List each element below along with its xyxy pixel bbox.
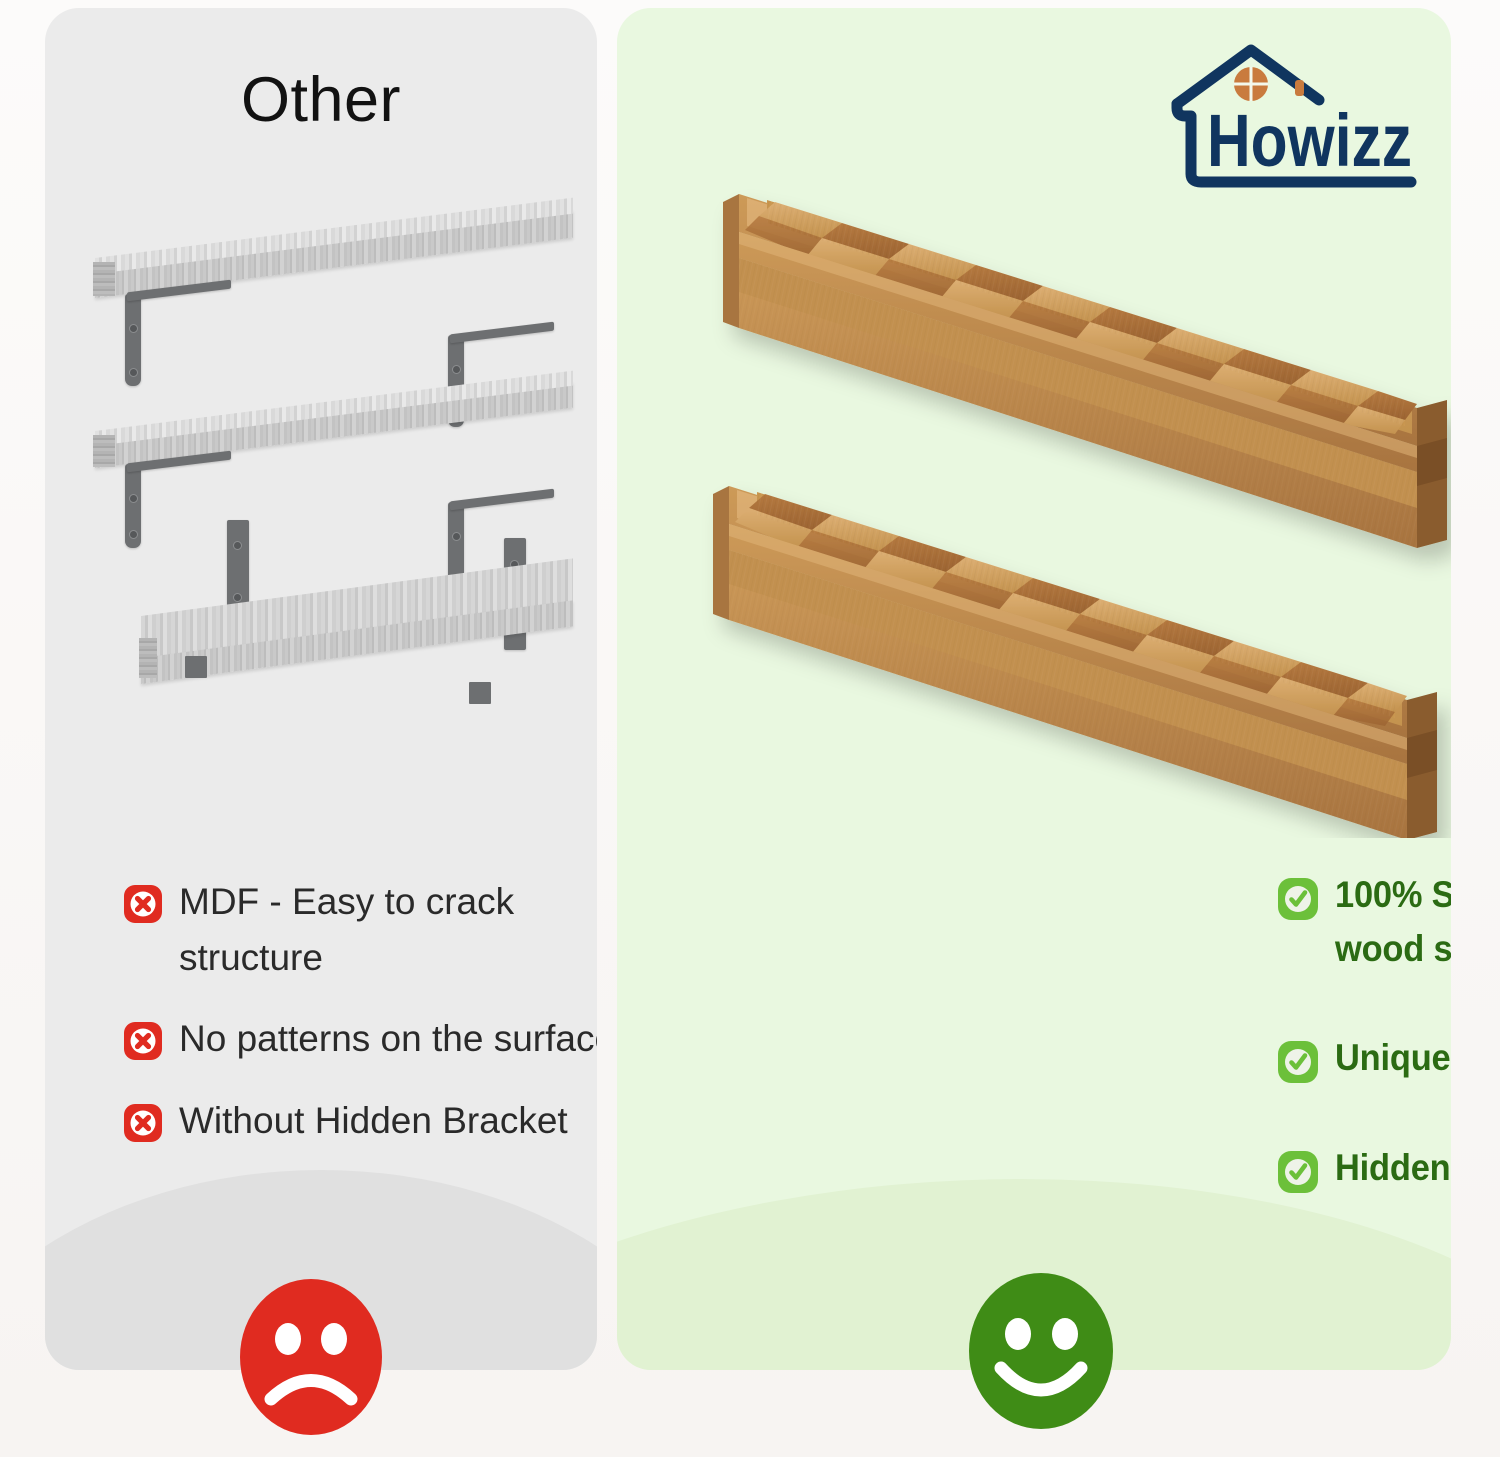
list-item: 100% Solid Acacia Wood - Durable wood st… (1277, 868, 1451, 975)
list-item-label: Hidden Bracket (1335, 1141, 1451, 1195)
list-item: Unique Herringbone Pattern (1277, 1031, 1451, 1085)
drawback-list: MDF - Easy to crack structure No pattern… (123, 874, 597, 1174)
list-item: Hidden Bracket (1277, 1141, 1451, 1195)
happy-face-icon (966, 1271, 1116, 1431)
cross-circle-icon (123, 884, 163, 924)
list-item: No patterns on the surface (123, 1011, 597, 1067)
other-comparison-panel: Other (45, 8, 597, 1370)
list-item-label: Without Hidden Bracket (179, 1093, 568, 1149)
list-item-label: No patterns on the surface (179, 1011, 597, 1067)
check-circle-icon (1277, 1150, 1319, 1194)
acacia-shelf-lower (713, 486, 1437, 838)
benefit-list: 100% Solid Acacia Wood - Durable wood st… (1277, 868, 1451, 1251)
list-item-label: MDF - Easy to crack structure (179, 874, 597, 985)
list-item: MDF - Easy to crack structure (123, 874, 597, 985)
acacia-shelves-illustration (617, 78, 1451, 838)
list-item-label: 100% Solid Acacia Wood - Durable wood st… (1335, 868, 1451, 975)
check-circle-icon (1277, 1040, 1319, 1084)
list-item-label: Unique Herringbone Pattern (1335, 1031, 1451, 1085)
howizz-product-panel: Howizz (617, 8, 1451, 1370)
sad-face-icon (238, 1277, 384, 1437)
acacia-shelf-upper (723, 194, 1447, 548)
cross-circle-icon (123, 1103, 163, 1143)
check-circle-icon (1277, 877, 1319, 921)
page-title: Other (45, 64, 597, 136)
comparison-infographic: Other (0, 0, 1500, 1457)
cross-circle-icon (123, 1021, 163, 1061)
list-item: Without Hidden Bracket (123, 1093, 597, 1149)
